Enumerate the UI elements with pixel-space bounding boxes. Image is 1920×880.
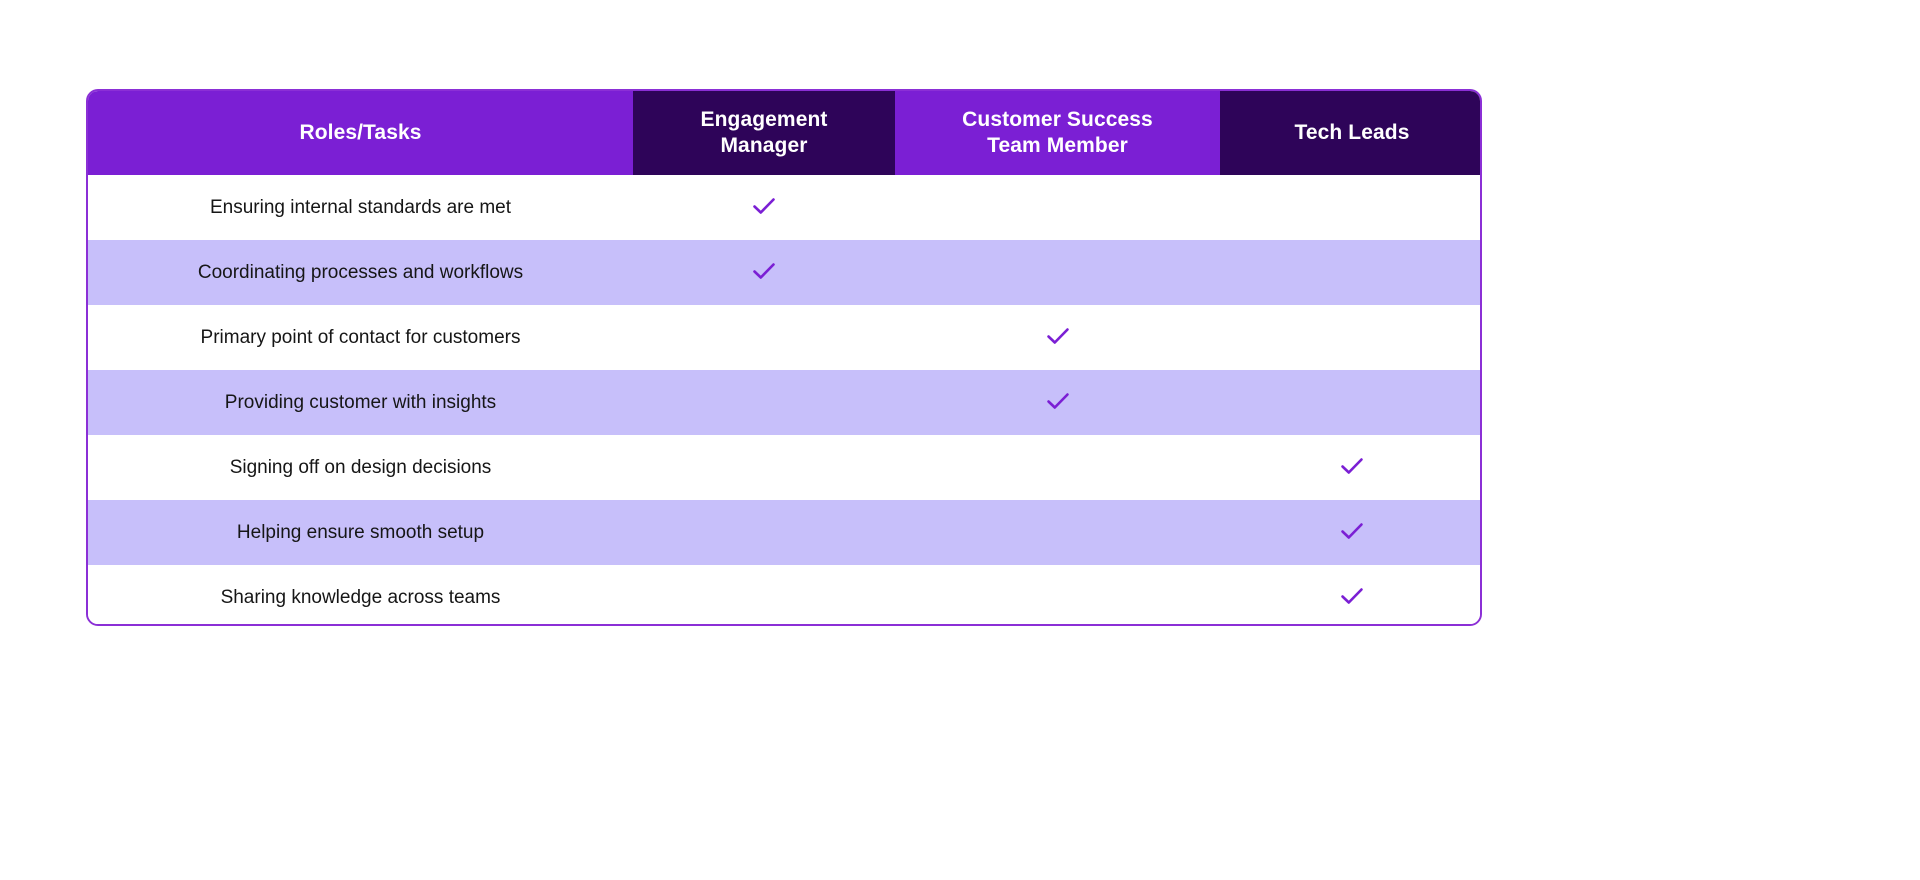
cell-customer-success [895, 240, 1220, 305]
task-label: Sharing knowledge across teams [88, 565, 633, 626]
check-icon [747, 254, 781, 288]
task-label: Helping ensure smooth setup [88, 500, 633, 565]
cell-customer-success [895, 565, 1220, 626]
header-row: Roles/Tasks Engagement Manager Customer … [88, 91, 1482, 175]
cell-tech-leads [1220, 175, 1482, 240]
cell-tech-leads [1220, 305, 1482, 370]
cell-engagement-manager [633, 500, 895, 565]
check-icon [1335, 579, 1369, 613]
cell-tech-leads [1220, 240, 1482, 305]
cell-engagement-manager [633, 565, 895, 626]
table-row[interactable]: Helping ensure smooth setup [88, 500, 1482, 565]
cell-tech-leads [1220, 500, 1482, 565]
table-row[interactable]: Signing off on design decisions [88, 435, 1482, 500]
cell-tech-leads [1220, 435, 1482, 500]
cell-engagement-manager [633, 435, 895, 500]
column-header-customer-success-team-member[interactable]: Customer Success Team Member [895, 91, 1220, 175]
check-icon [1041, 384, 1075, 418]
task-label: Ensuring internal standards are met [88, 175, 633, 240]
table-row[interactable]: Coordinating processes and workflows [88, 240, 1482, 305]
cell-tech-leads [1220, 370, 1482, 435]
cell-customer-success [895, 435, 1220, 500]
cell-tech-leads [1220, 565, 1482, 626]
check-icon [1335, 514, 1369, 548]
header-line-1: Customer Success [962, 108, 1153, 131]
cell-customer-success [895, 500, 1220, 565]
header-line-2: Team Member [987, 134, 1128, 157]
cell-customer-success [895, 305, 1220, 370]
cell-engagement-manager [633, 240, 895, 305]
responsibility-matrix-table: Roles/Tasks Engagement Manager Customer … [88, 91, 1482, 626]
check-icon [1041, 319, 1075, 353]
cell-engagement-manager [633, 370, 895, 435]
column-header-tech-leads[interactable]: Tech Leads [1220, 91, 1482, 175]
check-icon [1335, 449, 1369, 483]
table-row[interactable]: Sharing knowledge across teams [88, 565, 1482, 626]
header-line-2: Manager [720, 134, 807, 157]
roles-tasks-matrix: Roles/Tasks Engagement Manager Customer … [86, 89, 1482, 626]
task-label: Signing off on design decisions [88, 435, 633, 500]
table-row[interactable]: Providing customer with insights [88, 370, 1482, 435]
cell-customer-success [895, 370, 1220, 435]
page-root: Roles/Tasks Engagement Manager Customer … [0, 0, 1920, 880]
task-label: Providing customer with insights [88, 370, 633, 435]
check-icon [747, 189, 781, 223]
task-label: Primary point of contact for customers [88, 305, 633, 370]
table-row[interactable]: Primary point of contact for customers [88, 305, 1482, 370]
column-header-engagement-manager[interactable]: Engagement Manager [633, 91, 895, 175]
task-label: Coordinating processes and workflows [88, 240, 633, 305]
table-row[interactable]: Ensuring internal standards are met [88, 175, 1482, 240]
cell-customer-success [895, 175, 1220, 240]
table-body: Ensuring internal standards are met Coor… [88, 175, 1482, 626]
cell-engagement-manager [633, 305, 895, 370]
table-header: Roles/Tasks Engagement Manager Customer … [88, 91, 1482, 175]
header-line-1: Engagement [700, 108, 827, 131]
column-header-roles-tasks[interactable]: Roles/Tasks [88, 91, 633, 175]
cell-engagement-manager [633, 175, 895, 240]
